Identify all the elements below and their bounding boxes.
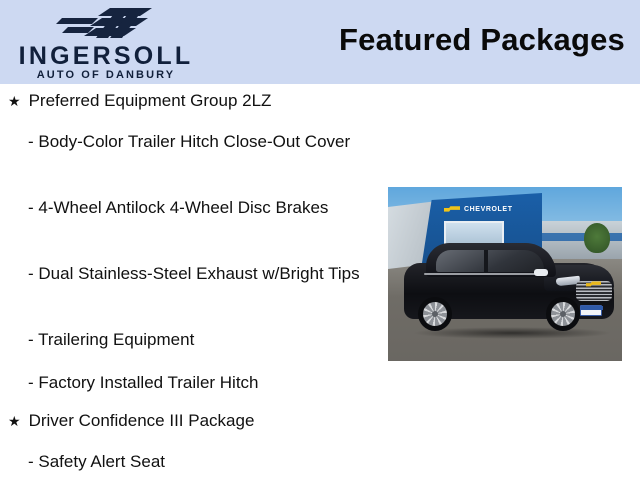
vehicle [404, 243, 614, 335]
slide: INGERSOLL AUTO OF DANBURY Featured Packa… [0, 0, 640, 480]
vehicle-license-plate [580, 305, 602, 316]
list-item: ★ Driver Confidence III Package [8, 410, 380, 432]
wheel-rim [423, 302, 447, 326]
dealership-sign-label: CHEVROLET [464, 206, 513, 213]
list-item: - Trailering Equipment [28, 328, 380, 351]
vehicle-photo-scene: CHEVROLET [388, 187, 622, 361]
wheel-hub [432, 311, 438, 317]
dealer-name: INGERSOLL [6, 44, 206, 69]
ingersoll-wing-emblem-icon [52, 6, 170, 40]
chevrolet-bowtie-icon [444, 206, 460, 213]
star-bullet-icon: ★ [8, 90, 21, 112]
list-item: ★ Preferred Equipment Group 2LZ [8, 90, 380, 112]
vehicle-photo: CHEVROLET [388, 187, 622, 361]
list-item: - 4-Wheel Antilock 4-Wheel Disc Brakes [28, 196, 380, 219]
list-item: - Dual Stainless-Steel Exhaust w/Bright … [28, 262, 380, 285]
dealership-sign: CHEVROLET [444, 201, 526, 217]
vehicle-b-pillar [484, 250, 488, 272]
list-item: - Body-Color Trailer Hitch Close-Out Cov… [28, 130, 380, 153]
list-item-label: Preferred Equipment Group 2LZ [29, 90, 272, 112]
vehicle-side-mirror [534, 269, 548, 276]
list-item: - Factory Installed Trailer Hitch [28, 371, 380, 394]
dealer-logo: INGERSOLL AUTO OF DANBURY [0, 2, 212, 82]
plate-banner [581, 306, 603, 310]
list-item-label: Driver Confidence III Package [29, 410, 255, 432]
page-title: Featured Packages [339, 22, 625, 58]
slide-header: INGERSOLL AUTO OF DANBURY Featured Packa… [0, 0, 640, 84]
wheel-rim [551, 302, 575, 326]
vehicle-front-wheel [546, 297, 580, 331]
dealer-tagline: AUTO OF DANBURY [6, 70, 206, 81]
wheel-hub [560, 311, 566, 317]
vehicle-windows [436, 250, 544, 272]
vehicle-rear-wheel [418, 297, 452, 331]
vehicle-chrome-trim [424, 273, 544, 275]
star-bullet-icon: ★ [8, 410, 21, 432]
list-item: - Safety Alert Seat [28, 450, 380, 473]
